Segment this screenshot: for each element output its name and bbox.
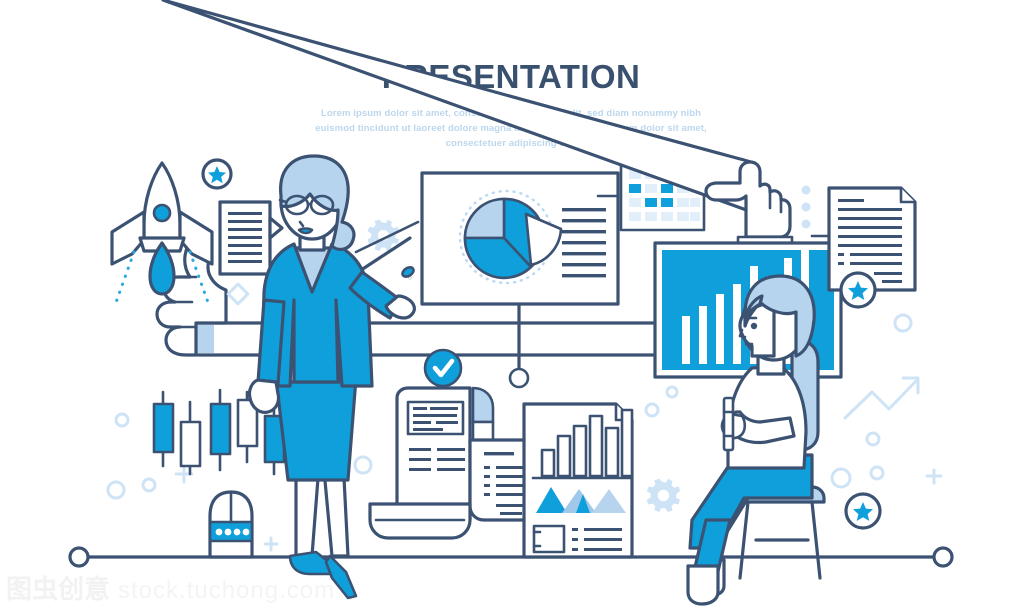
document-star-icon (812, 188, 915, 307)
device-icon (210, 492, 252, 557)
watermark-chinese: 图虫创意 (6, 574, 110, 605)
report-document (524, 404, 632, 557)
candle (154, 392, 173, 466)
candle (181, 402, 200, 474)
candle (211, 390, 230, 470)
star-badge-icon (203, 160, 231, 188)
trend-arrow-icon (845, 378, 918, 418)
illustration-canvas: .ln { fill:none; stroke:#3c5273; stroke-… (0, 0, 1023, 614)
watermark-english: stock.tuchong.com (118, 577, 335, 604)
diamond-icon (228, 284, 248, 304)
watermark: 图虫创意 stock.tuchong.com (6, 574, 335, 605)
presentation-illustration: .ln { fill:none; stroke:#3c5273; stroke-… (0, 0, 1023, 614)
star-badge-icon-2 (846, 494, 880, 528)
check-circle-icon (425, 350, 461, 386)
gear-icon-small (647, 479, 680, 512)
